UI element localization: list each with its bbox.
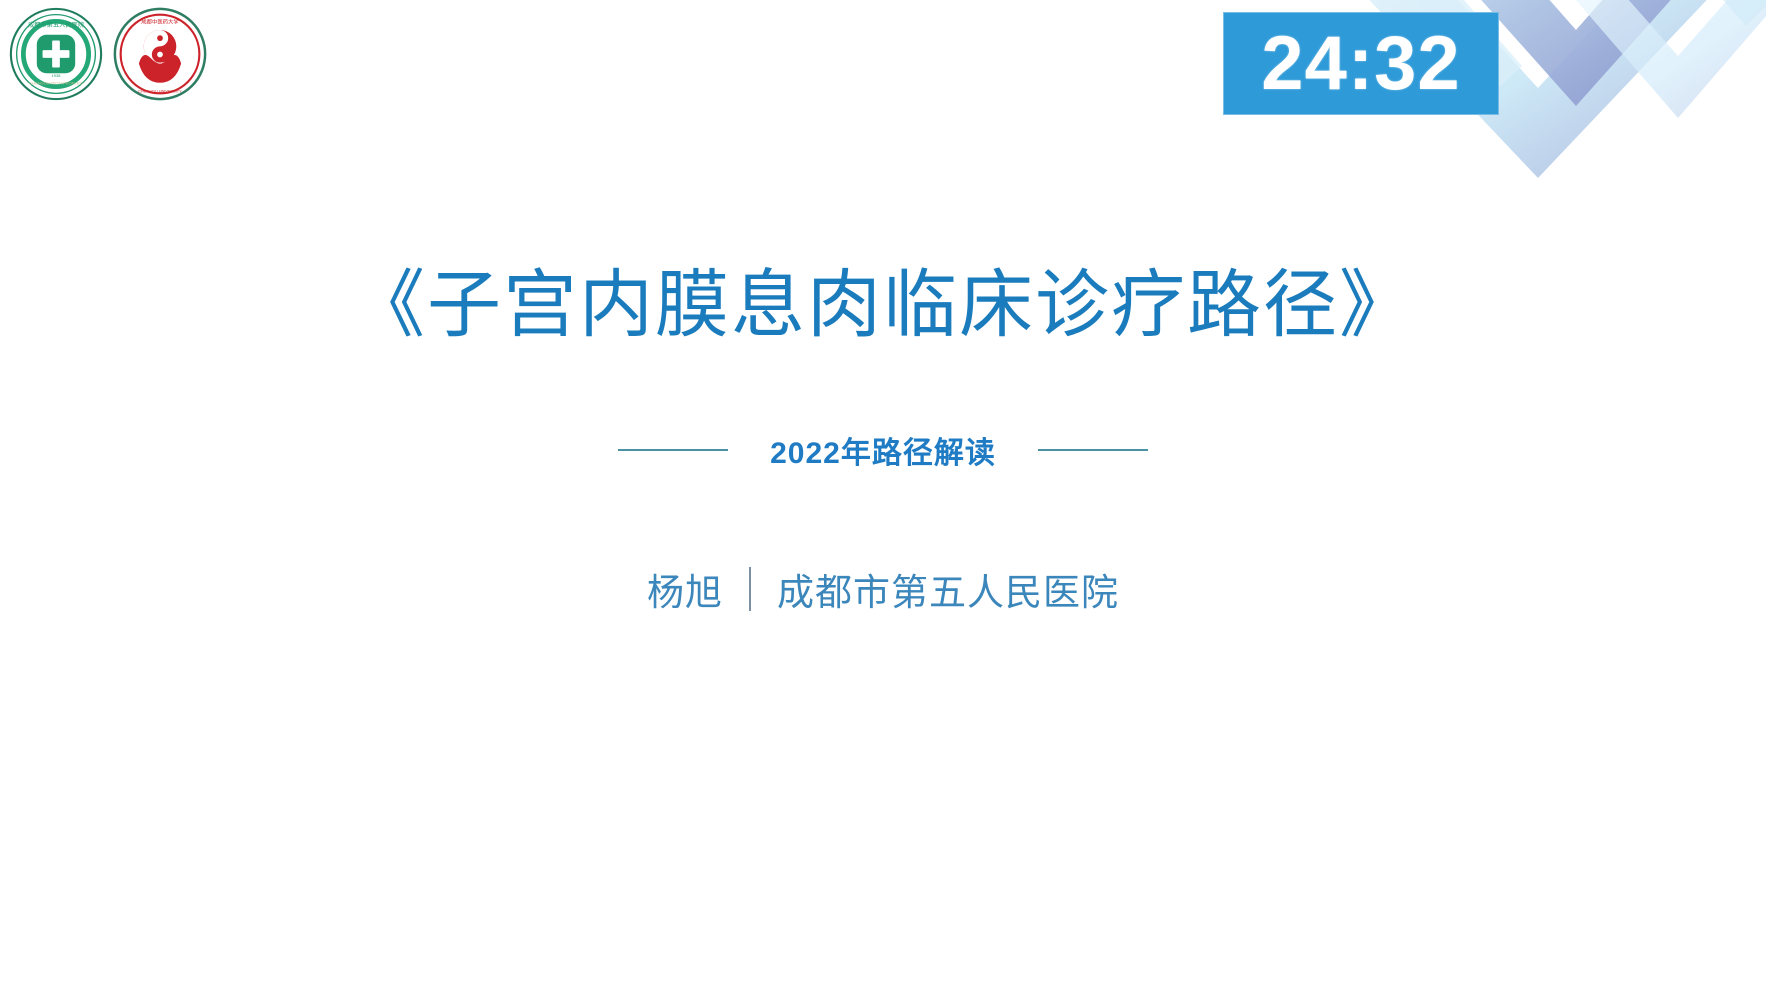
- subtitle-rule-right: [1038, 449, 1148, 451]
- author-name: 杨旭: [647, 562, 723, 616]
- author-separator: [749, 567, 751, 611]
- author-organization: 成都市第五人民医院: [777, 562, 1119, 616]
- author-row: 杨旭 成都市第五人民医院: [0, 562, 1766, 616]
- subtitle-rule-left: [618, 449, 728, 451]
- page-subtitle: 2022年路径解读: [770, 428, 996, 472]
- slide-content: 《子宫内膜息肉临床诊疗路径》 2022年路径解读 杨旭 成都市第五人民医院: [0, 0, 1766, 989]
- slide-canvas: 成都市第五人民医院 CHENGDU FIFTH PEOPLE'S 1938 成都…: [0, 0, 1766, 989]
- page-title: 《子宫内膜息肉临床诊疗路径》: [0, 262, 1766, 347]
- subtitle-row: 2022年路径解读: [0, 428, 1766, 472]
